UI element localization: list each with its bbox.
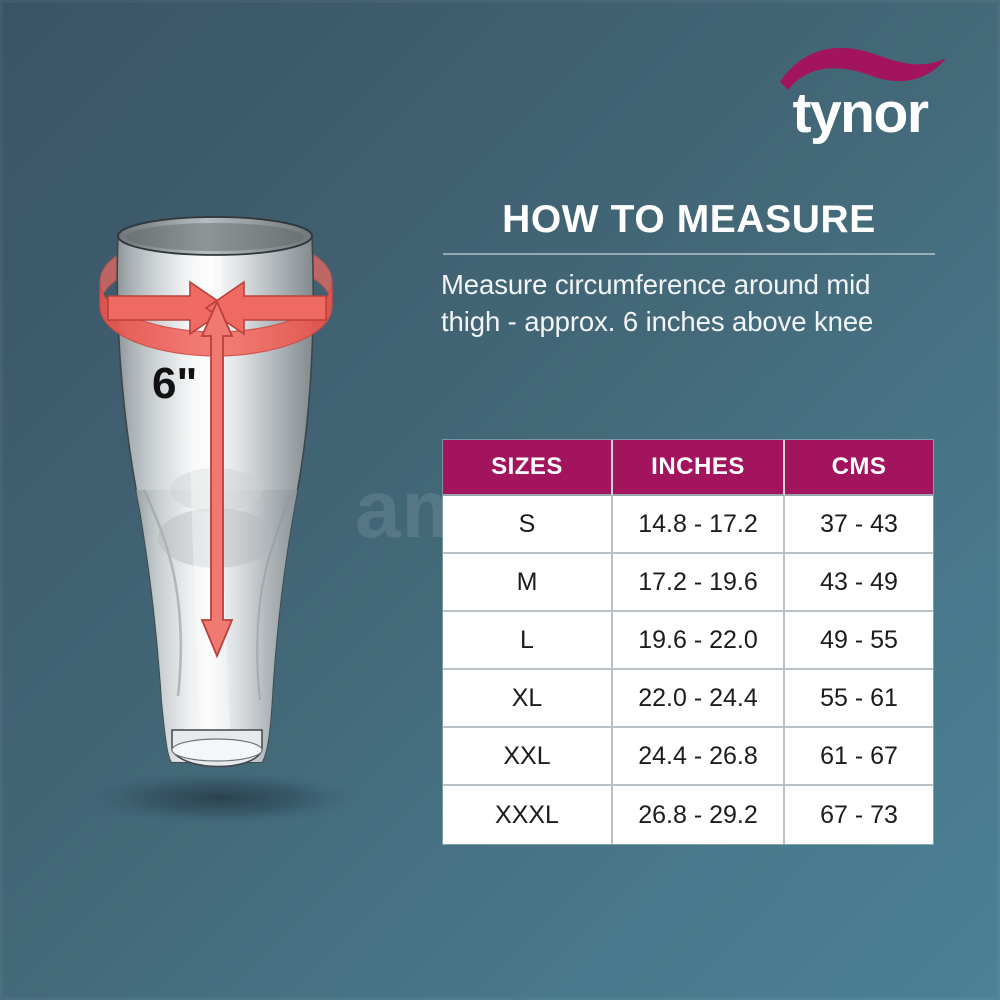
cell-size: XXXL bbox=[443, 786, 613, 844]
measurement-instructions: Measure circumference around mid thigh -… bbox=[441, 266, 937, 340]
distance-label: 6" bbox=[152, 359, 197, 408]
column-header-inches: INCHES bbox=[613, 440, 785, 496]
column-header-sizes: SIZES bbox=[443, 440, 613, 496]
table-row: M 17.2 - 19.6 43 - 49 bbox=[443, 554, 933, 612]
leg-illustration-icon: 6" bbox=[40, 190, 420, 880]
cell-inches: 17.2 - 19.6 bbox=[613, 554, 785, 612]
cell-cms: 37 - 43 bbox=[785, 496, 933, 554]
table-row: XXXL 26.8 - 29.2 67 - 73 bbox=[443, 786, 933, 844]
column-header-cms: CMS bbox=[785, 440, 933, 496]
table-header-row: SIZES INCHES CMS bbox=[443, 440, 933, 496]
cell-inches: 19.6 - 22.0 bbox=[613, 612, 785, 670]
cell-cms: 61 - 67 bbox=[785, 728, 933, 786]
cell-inches: 26.8 - 29.2 bbox=[613, 786, 785, 844]
cell-size: XL bbox=[443, 670, 613, 728]
thigh-measurement-diagram: 6" bbox=[40, 190, 420, 880]
cell-cms: 67 - 73 bbox=[785, 786, 933, 844]
table-row: XL 22.0 - 24.4 55 - 61 bbox=[443, 670, 933, 728]
cell-cms: 55 - 61 bbox=[785, 670, 933, 728]
size-chart-table: SIZES INCHES CMS S 14.8 - 17.2 37 - 43 M… bbox=[443, 440, 933, 844]
table-row: S 14.8 - 17.2 37 - 43 bbox=[443, 496, 933, 554]
table-row: L 19.6 - 22.0 49 - 55 bbox=[443, 612, 933, 670]
cell-size: XXL bbox=[443, 728, 613, 786]
title-divider bbox=[443, 253, 935, 255]
cell-cms: 49 - 55 bbox=[785, 612, 933, 670]
cell-cms: 43 - 49 bbox=[785, 554, 933, 612]
cell-inches: 14.8 - 17.2 bbox=[613, 496, 785, 554]
cell-inches: 24.4 - 26.8 bbox=[613, 728, 785, 786]
cell-inches: 22.0 - 24.4 bbox=[613, 670, 785, 728]
brand-logo: tynor bbox=[770, 42, 950, 142]
cell-size: L bbox=[443, 612, 613, 670]
page-title: HOW TO MEASURE bbox=[443, 196, 935, 244]
ground-shadow-icon bbox=[82, 771, 362, 825]
brand-name: tynor bbox=[770, 80, 950, 146]
cell-size: S bbox=[443, 496, 613, 554]
table-row: XXL 24.4 - 26.8 61 - 67 bbox=[443, 728, 933, 786]
size-chart-page: amazon tynor bbox=[0, 0, 1000, 1000]
cell-size: M bbox=[443, 554, 613, 612]
